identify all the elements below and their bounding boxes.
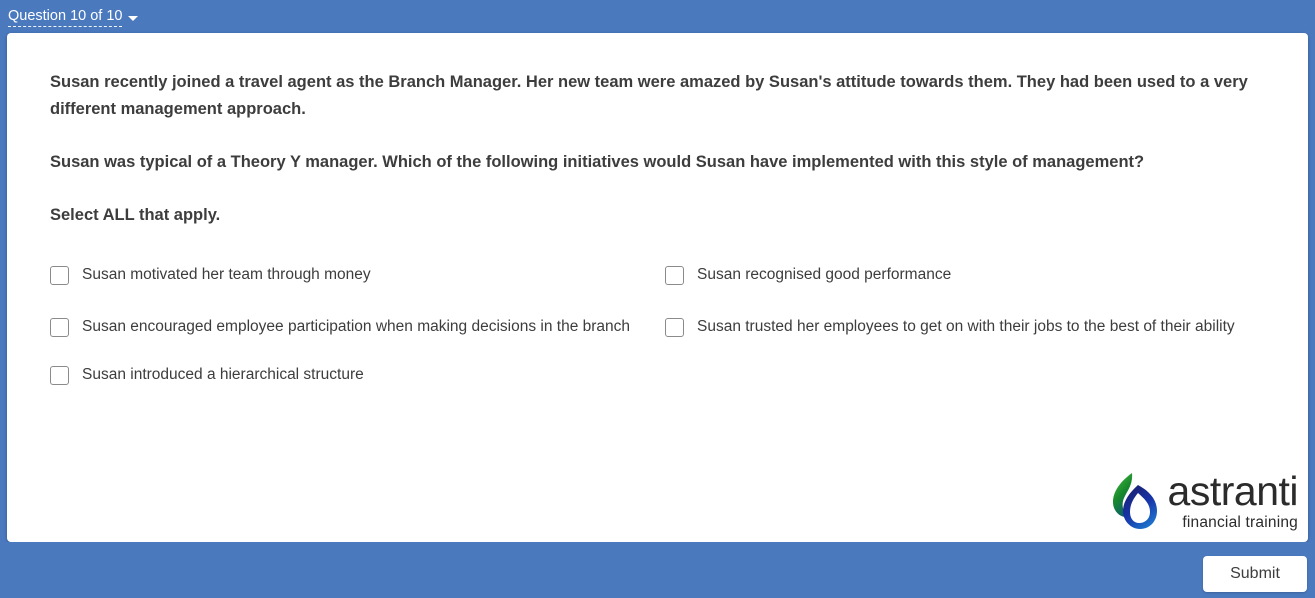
top-bar: Question 10 of 10	[0, 0, 1315, 33]
checkbox-option-1[interactable]	[665, 266, 684, 285]
logo-tagline: financial training	[1182, 515, 1298, 531]
question-nav-dropdown[interactable]: Question 10 of 10	[8, 8, 138, 27]
option-row: Susan motivated her team through money S…	[50, 263, 1280, 287]
question-nav-label: Question 10 of 10	[8, 8, 122, 27]
option-item-4[interactable]: Susan introduced a hierarchical structur…	[50, 363, 665, 387]
option-row: Susan encouraged employee participation …	[50, 315, 1280, 339]
option-label-4[interactable]: Susan introduced a hierarchical structur…	[82, 363, 364, 387]
option-item-1[interactable]: Susan recognised good performance	[665, 263, 1280, 287]
option-item-2[interactable]: Susan encouraged employee participation …	[50, 315, 665, 339]
checkbox-option-3[interactable]	[665, 318, 684, 337]
question-paragraph-1: Susan recently joined a travel agent as …	[50, 69, 1272, 123]
select-all-instruction: Select ALL that apply.	[50, 202, 1288, 229]
submit-button[interactable]: Submit	[1203, 556, 1307, 592]
checkbox-option-0[interactable]	[50, 266, 69, 285]
question-card: Susan recently joined a travel agent as …	[7, 33, 1308, 542]
question-content: Susan recently joined a travel agent as …	[50, 69, 1288, 387]
checkbox-option-2[interactable]	[50, 318, 69, 337]
options-list: Susan motivated her team through money S…	[50, 263, 1280, 387]
option-label-1[interactable]: Susan recognised good performance	[697, 263, 951, 287]
footer-bar: Submit	[0, 542, 1315, 598]
brand-logo: astranti financial training	[1109, 470, 1298, 532]
option-label-0[interactable]: Susan motivated her team through money	[82, 263, 371, 287]
option-item-0[interactable]: Susan motivated her team through money	[50, 263, 665, 287]
chevron-down-icon	[128, 16, 138, 21]
question-paragraph-2: Susan was typical of a Theory Y manager.…	[50, 149, 1272, 176]
option-cell-empty	[665, 363, 1280, 387]
option-label-2[interactable]: Susan encouraged employee participation …	[82, 315, 630, 339]
flame-leaf-icon	[1109, 471, 1161, 531]
option-item-3[interactable]: Susan trusted her employees to get on wi…	[665, 315, 1280, 339]
option-row: Susan introduced a hierarchical structur…	[50, 363, 1280, 387]
checkbox-option-4[interactable]	[50, 366, 69, 385]
logo-wordmark: astranti	[1168, 471, 1298, 512]
option-label-3[interactable]: Susan trusted her employees to get on wi…	[697, 315, 1235, 339]
